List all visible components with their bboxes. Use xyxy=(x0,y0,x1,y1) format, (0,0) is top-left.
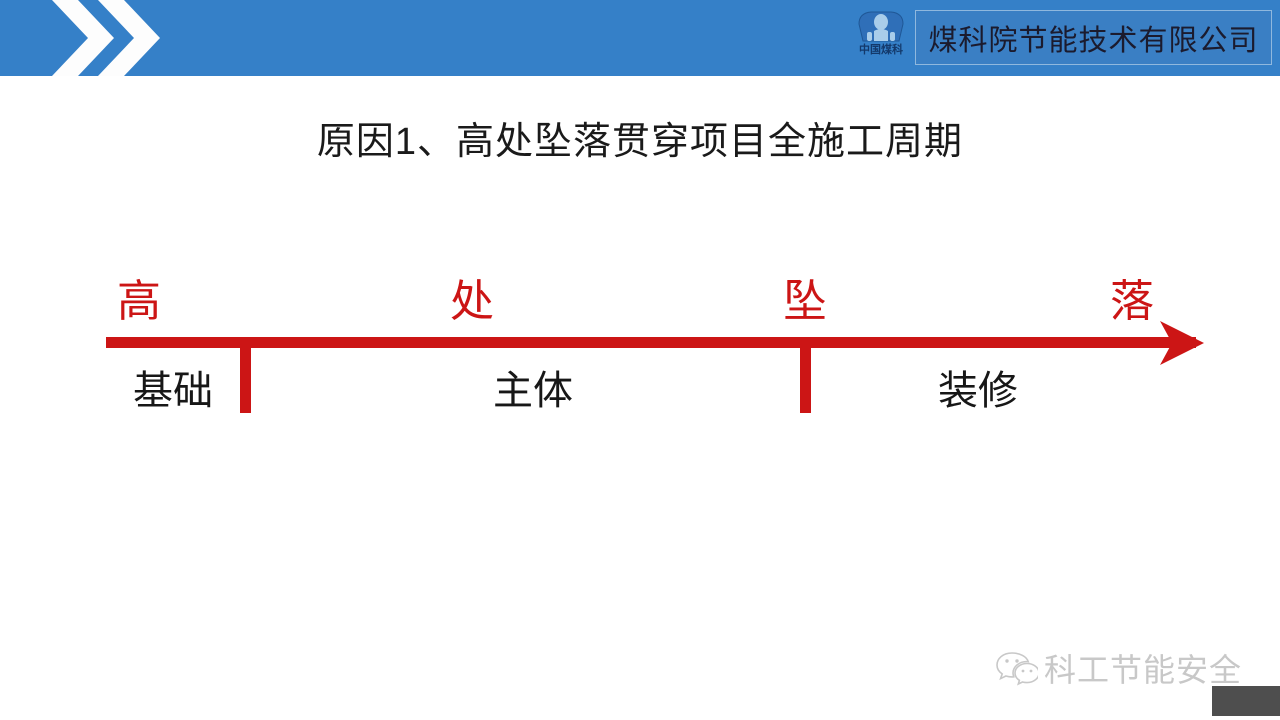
footer-watermark: 科工节能安全 xyxy=(996,645,1242,691)
timeline-phase-label: 主体 xyxy=(493,368,573,414)
corner-block xyxy=(1212,686,1280,716)
timeline-axis xyxy=(106,337,1196,348)
timeline-phase-label: 装修 xyxy=(938,368,1018,414)
timeline-phase-label: 基础 xyxy=(133,368,213,414)
timeline-tick xyxy=(800,337,811,413)
chevron-group xyxy=(52,0,162,76)
logo-caption: 中国煤科 xyxy=(848,44,914,57)
watermark-text: 科工节能安全 xyxy=(1044,645,1242,691)
timeline-diagram: 高 处 坠 落 基础 主体 装修 xyxy=(0,0,1280,720)
company-name-box: 煤科院节能技术有限公司 xyxy=(915,10,1272,65)
wechat-icon xyxy=(996,649,1038,687)
timeline-top-label: 落 xyxy=(1110,277,1154,327)
company-name-text: 煤科院节能技术有限公司 xyxy=(916,11,1271,64)
double-chevron-right-icon-second xyxy=(98,0,160,76)
timeline-tick xyxy=(240,337,251,413)
china-coal-emblem-icon xyxy=(857,10,905,43)
timeline-top-label: 坠 xyxy=(783,277,827,327)
header-bar: 中国煤科 煤科院节能技术有限公司 xyxy=(0,0,1280,76)
timeline-top-label: 处 xyxy=(450,277,494,327)
page-title: 原因1、高处坠落贯穿项目全施工周期 xyxy=(0,110,1280,165)
brand-logo: 中国煤科 xyxy=(848,9,914,67)
timeline-top-label: 高 xyxy=(117,277,161,327)
arrow-right-icon xyxy=(1158,315,1204,371)
